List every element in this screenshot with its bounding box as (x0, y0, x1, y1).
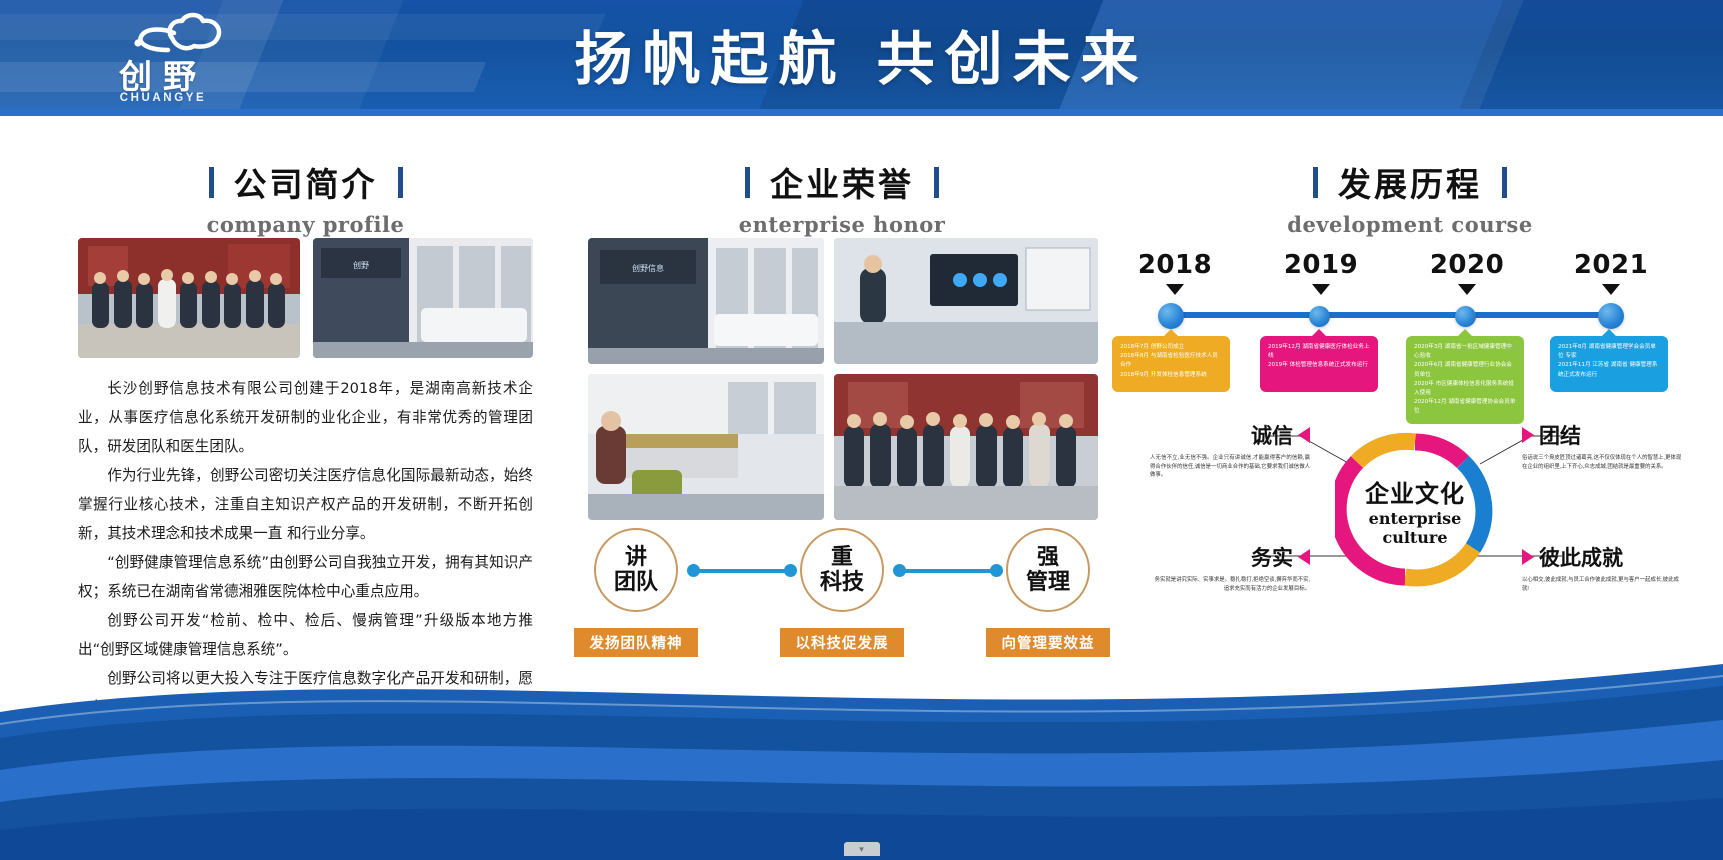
timeline-event: 2020年 市区健康体检信息化服务系统投入使用 (1414, 380, 1517, 398)
value-circle-team: 讲 团队 (594, 528, 678, 612)
header-underline (0, 109, 1723, 116)
value-description: 以心相交,彼此成就,与员工合作彼此成就,更与客户一起成长,彼此成就! (1522, 576, 1682, 593)
profile-paragraph: 作为行业先锋，创野公司密切关注医疗信息化国际最新动态，始终掌握行业核心技术，注重… (78, 461, 533, 548)
card-tip (1602, 329, 1616, 336)
card-tip (1458, 329, 1472, 336)
poster-title: 扬帆起航 共创未来 (0, 26, 1723, 92)
section-title-cn: 公司简介 (234, 158, 378, 206)
section-title-en: development course (1150, 212, 1670, 237)
timeline-card-2021: 2021年8月 湖南省健康管理学会会员单位 专家 2021年11月 江苏省 湖南… (1550, 336, 1668, 392)
heading-bar-right (934, 167, 939, 198)
value-title: 诚信 (1251, 420, 1293, 450)
timeline-year: 2021 (1556, 250, 1666, 280)
card-tip (1164, 329, 1178, 336)
poster-footer: ▾ (0, 620, 1723, 860)
heading-bar-right (398, 167, 403, 198)
connector-dot (990, 564, 1003, 577)
timeline-event: 2018年8月 与湖南省检验医疗技术人员合作 (1120, 352, 1223, 370)
culture-wall-poster: 创野 CHUANGYE 扬帆起航 共创未来 公司简介 company profi… (0, 0, 1723, 860)
culture-wheel: 企业文化 enterprise culture (1335, 430, 1495, 590)
enterprise-honor-column: 创野信息 (588, 238, 1096, 520)
scroll-down-indicator[interactable]: ▾ (844, 842, 880, 856)
culture-value-unity: 团结 俗话说三个臭皮匠顶过诸葛亮,这不仅仅体现在个人的智慧上,更体现在企业的组织… (1522, 420, 1682, 471)
timeline-event: 2021年11月 江苏省 湖南省 健康管理系统正式发布运行 (1558, 361, 1661, 379)
office-interior-photo: 创野 (313, 238, 533, 358)
arrow-right-icon (1522, 549, 1534, 565)
culture-center-en2: culture (1382, 528, 1447, 547)
svg-text:创野: 创野 (353, 260, 369, 270)
value-circle-tech: 重 科技 (800, 528, 884, 612)
timeline-node (1158, 303, 1184, 329)
value-title: 彼此成就 (1539, 542, 1623, 572)
timeline-caret (1312, 284, 1330, 295)
office-reception-photo: 创野信息 (588, 238, 824, 364)
timeline-card-2018: 2018年7月 创野公司成立 2018年8月 与湖南省检验医疗技术人员合作 20… (1112, 336, 1230, 392)
circle-connector (693, 569, 793, 573)
development-timeline: 2018 2019 2020 2021 2018年7月 创野公司成立 2018年… (1150, 250, 1670, 304)
value-title: 团结 (1539, 420, 1581, 450)
logo-english-name: CHUANGYE (88, 92, 238, 104)
heading-bar-left (745, 167, 750, 198)
heading-bar-left (209, 167, 214, 198)
section-heading-honor: 企业荣誉 enterprise honor (588, 158, 1096, 237)
timeline-caret (1166, 284, 1184, 295)
section-title-en: enterprise honor (588, 212, 1096, 237)
timeline-event: 2020年3月 湖南省一批区域健康管理中心验收 (1414, 343, 1517, 361)
timeline-caret (1602, 284, 1620, 295)
section-title-cn: 发展历程 (1338, 158, 1482, 206)
circle-line1: 讲 (625, 545, 647, 570)
team-group-photo (834, 374, 1098, 520)
group-photo-art (834, 374, 1098, 520)
open-workspace-photo (588, 374, 824, 520)
timeline-event: 2020年12月 湖南省健康管理协会会员单位 (1414, 398, 1517, 416)
value-title: 务实 (1251, 542, 1293, 572)
arrow-left-icon (1298, 549, 1310, 565)
reception-photo-art: 创野信息 (588, 238, 824, 364)
section-heading-course: 发展历程 development course (1150, 158, 1670, 237)
presentation-meeting-photo (834, 238, 1098, 364)
section-title-en: company profile (78, 212, 533, 237)
timeline-node (1309, 306, 1330, 327)
timeline-card-2019: 2019年12月 湖南省健康医疗体检业务上线 2019年 体检管理信息系统正式发… (1260, 336, 1378, 392)
value-description: 俗话说三个臭皮匠顶过诸葛亮,这不仅仅体现在个人的智慧上,更体现在企业的组织里,上… (1522, 454, 1682, 471)
timeline-event: 2020年6月 湖南省健康管理行业协会会员单位 (1414, 361, 1517, 379)
profile-paragraph: 长沙创野信息技术有限公司创建于2018年，是湖南高新技术企业，从事医疗信息化系统… (78, 374, 533, 461)
circle-line1: 重 (831, 545, 853, 570)
timeline-event: 2019年12月 湖南省健康医疗体检业务上线 (1268, 343, 1371, 361)
timeline-year: 2018 (1120, 250, 1230, 280)
circle-line2: 科技 (820, 570, 864, 595)
culture-value-pragmatism: 务实 务实就是讲究实际、实事求是。稳扎稳打,拒绝空谈,摒弃华而不实,追求充实而有… (1150, 542, 1310, 593)
office-photo-art: 创野 (313, 238, 533, 358)
timeline-event: 2021年8月 湖南省健康管理学会会员单位 专家 (1558, 343, 1661, 361)
circle-line2: 团队 (614, 570, 658, 595)
timeline-year: 2020 (1412, 250, 1522, 280)
timeline-axis (1164, 312, 1620, 318)
connector-dot (784, 564, 797, 577)
circle-line1: 强 (1037, 545, 1059, 570)
timeline-years: 2018 2019 2020 2021 (1150, 250, 1670, 304)
value-description: 人无信不立,业无信不强。企业只有讲诚信,才能赢得客户的信赖,赢得合作伙伴的信任,… (1150, 454, 1310, 480)
culture-value-integrity: 诚信 人无信不立,业无信不强。企业只有讲诚信,才能赢得客户的信赖,赢得合作伙伴的… (1150, 420, 1310, 480)
heading-bar-left (1313, 167, 1318, 198)
svg-text:创野信息: 创野信息 (632, 263, 664, 273)
culture-center-en1: enterprise (1369, 509, 1462, 528)
workspace-photo-art (588, 374, 824, 520)
value-circle-management: 强 管理 (1006, 528, 1090, 612)
enterprise-culture-diagram: 企业文化 enterprise culture 诚信 人无信不立,业无信不强。企… (1150, 420, 1680, 640)
section-heading-profile: 公司简介 company profile (78, 158, 533, 237)
arrow-left-icon (1298, 427, 1310, 443)
team-photo (78, 238, 300, 358)
connector-dot (687, 564, 700, 577)
card-tip (1312, 329, 1326, 336)
timeline-event: 2019年 体检管理信息系统正式发布运行 (1268, 361, 1371, 370)
team-photo-art (78, 238, 300, 358)
section-title-cn: 企业荣誉 (770, 158, 914, 206)
culture-value-mutual-achievement: 彼此成就 以心相交,彼此成就,与员工合作彼此成就,更与客户一起成长,彼此成就! (1522, 542, 1682, 593)
circle-connector (899, 569, 999, 573)
profile-paragraph: “创野健康管理信息系统”由创野公司自我独立开发，拥有其知识产权；系统已在湖南省常… (78, 548, 533, 606)
timeline-event: 2018年7月 创野公司成立 (1120, 343, 1223, 352)
timeline-card-2020: 2020年3月 湖南省一批区域健康管理中心验收 2020年6月 湖南省健康管理行… (1406, 336, 1524, 424)
culture-center-label: 企业文化 enterprise culture (1335, 430, 1495, 590)
profile-photo-row: 创野 (78, 238, 533, 358)
timeline-event: 2018年9月 开发体检信息管理系统 (1120, 371, 1223, 380)
timeline-node (1598, 303, 1624, 329)
meeting-photo-art (834, 238, 1098, 364)
timeline-year: 2019 (1266, 250, 1376, 280)
connector-dot (893, 564, 906, 577)
timeline-caret (1458, 284, 1476, 295)
footer-wave-art (0, 620, 1723, 860)
poster-header: 创野 CHUANGYE 扬帆起航 共创未来 (0, 0, 1723, 116)
value-description: 务实就是讲究实际、实事求是。稳扎稳打,拒绝空谈,摒弃华而不实,追求充实而有活力的… (1150, 576, 1310, 593)
arrow-right-icon (1522, 427, 1534, 443)
culture-center-cn: 企业文化 (1365, 474, 1465, 509)
circle-line2: 管理 (1026, 570, 1070, 595)
heading-bar-right (1502, 167, 1507, 198)
honor-photo-grid: 创野信息 (588, 238, 1096, 520)
timeline-node (1455, 306, 1476, 327)
